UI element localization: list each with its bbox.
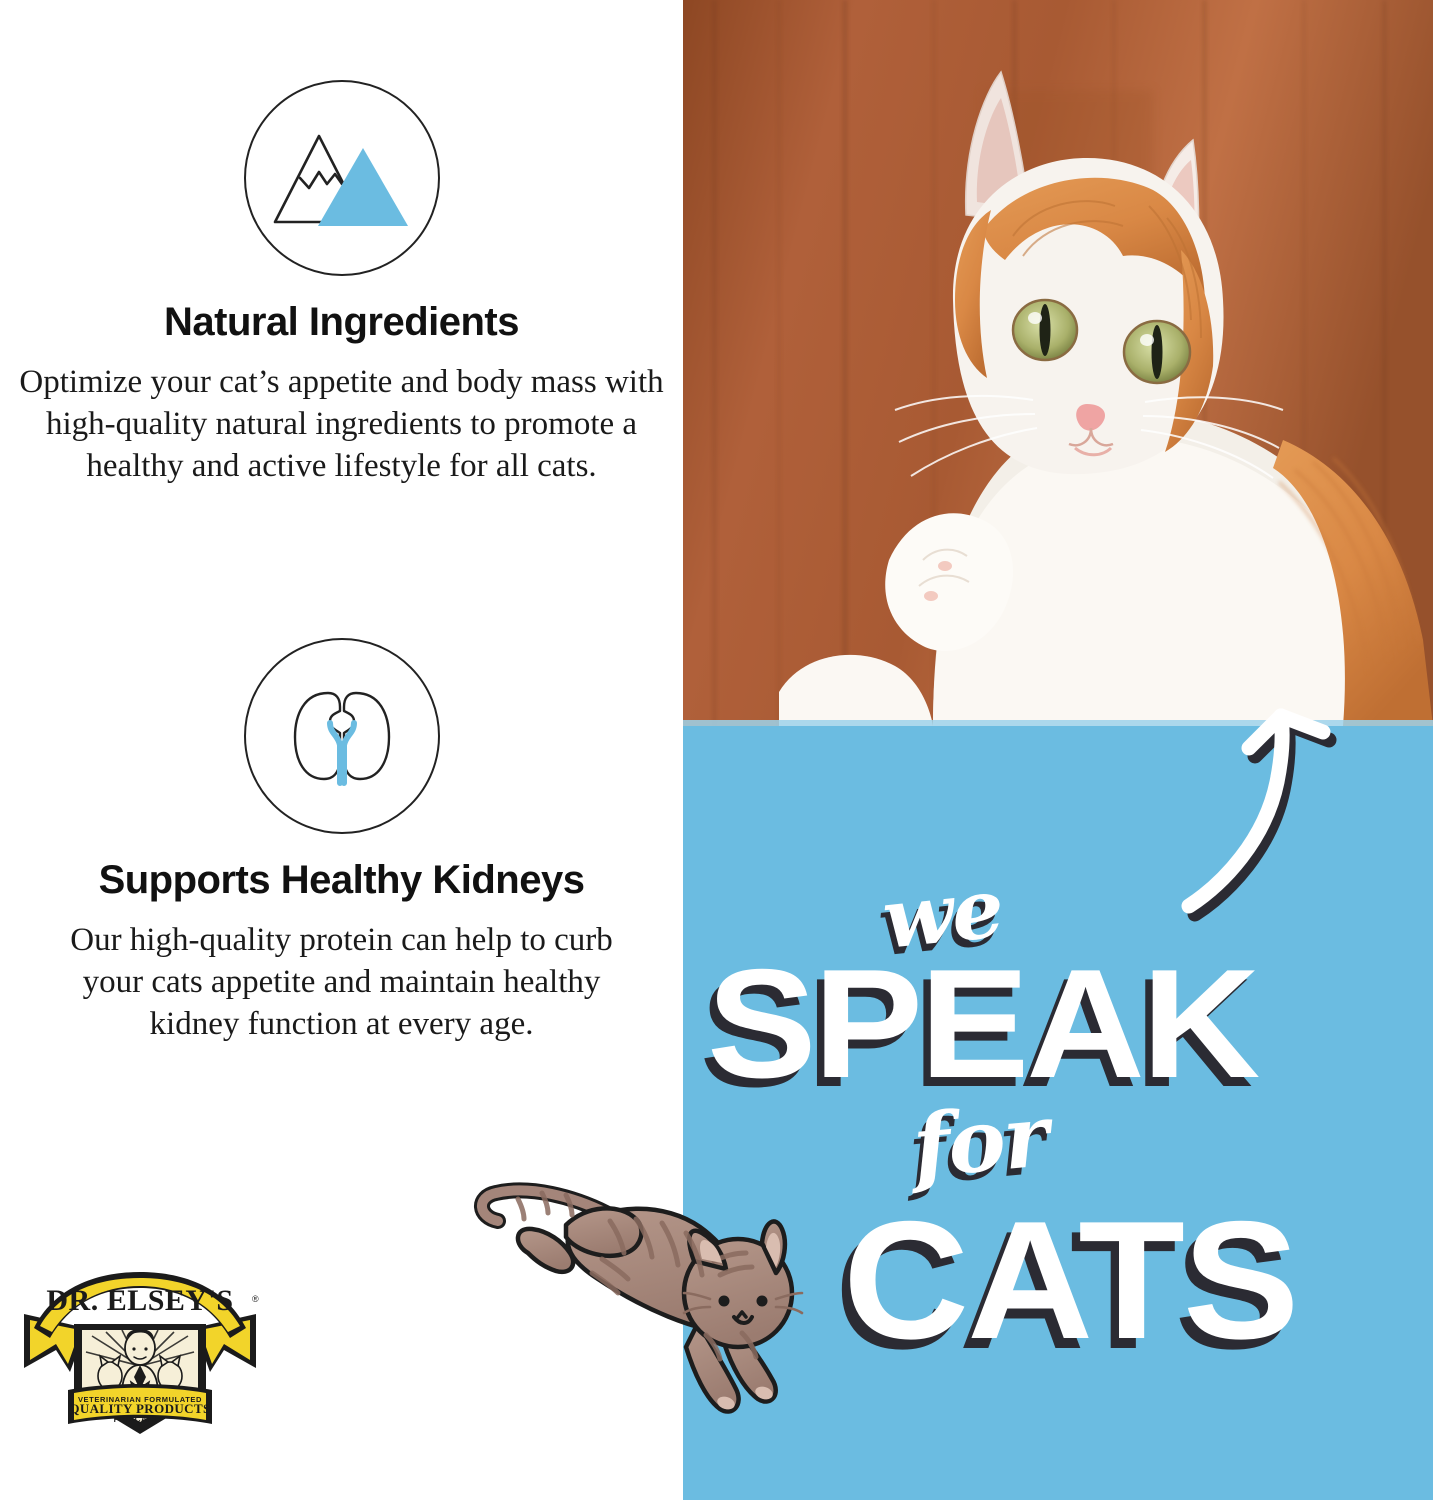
feature-body: Our high-quality protein can help to cur… [0, 920, 683, 1046]
mountain-icon [244, 80, 440, 276]
tagline-block: we SPEAK for CATS [683, 866, 1433, 1366]
logo-wordmark: DR. ELSEY'S [46, 1284, 233, 1317]
hero-column: we SPEAK for CATS [683, 0, 1433, 1500]
feature-natural-ingredients: Natural Ingredients Optimize your cat’s … [0, 80, 683, 488]
cat-photo [683, 0, 1433, 726]
registered-mark-icon: ® [252, 1294, 259, 1304]
feature-icon-wrap [0, 638, 683, 834]
feature-title: Natural Ingredients [0, 300, 683, 344]
feature-supports-healthy-kidneys: Supports Healthy Kidneys Our high-qualit… [0, 638, 683, 1046]
feature-title: Supports Healthy Kidneys [0, 858, 683, 902]
brand-logo: DR. ELSEY'S ® [16, 1272, 264, 1444]
logo-tagline-line3: FOR CATS™ [114, 1415, 167, 1424]
kidneys-icon [244, 638, 440, 834]
feature-body: Optimize your cat’s appetite and body ma… [0, 362, 683, 488]
features-column: Natural Ingredients Optimize your cat’s … [0, 0, 683, 1500]
tagline-word-for: for [909, 1085, 1051, 1197]
tagline-word-cats: CATS [843, 1196, 1297, 1364]
tagline-panel: we SPEAK for CATS [683, 726, 1433, 1500]
feature-icon-wrap [0, 80, 683, 276]
infographic-page: Natural Ingredients Optimize your cat’s … [0, 0, 1433, 1500]
tagline-word-speak: SPEAK [707, 946, 1433, 1101]
logo-tagline-line2: QUALITY PRODUCTS [69, 1401, 210, 1416]
